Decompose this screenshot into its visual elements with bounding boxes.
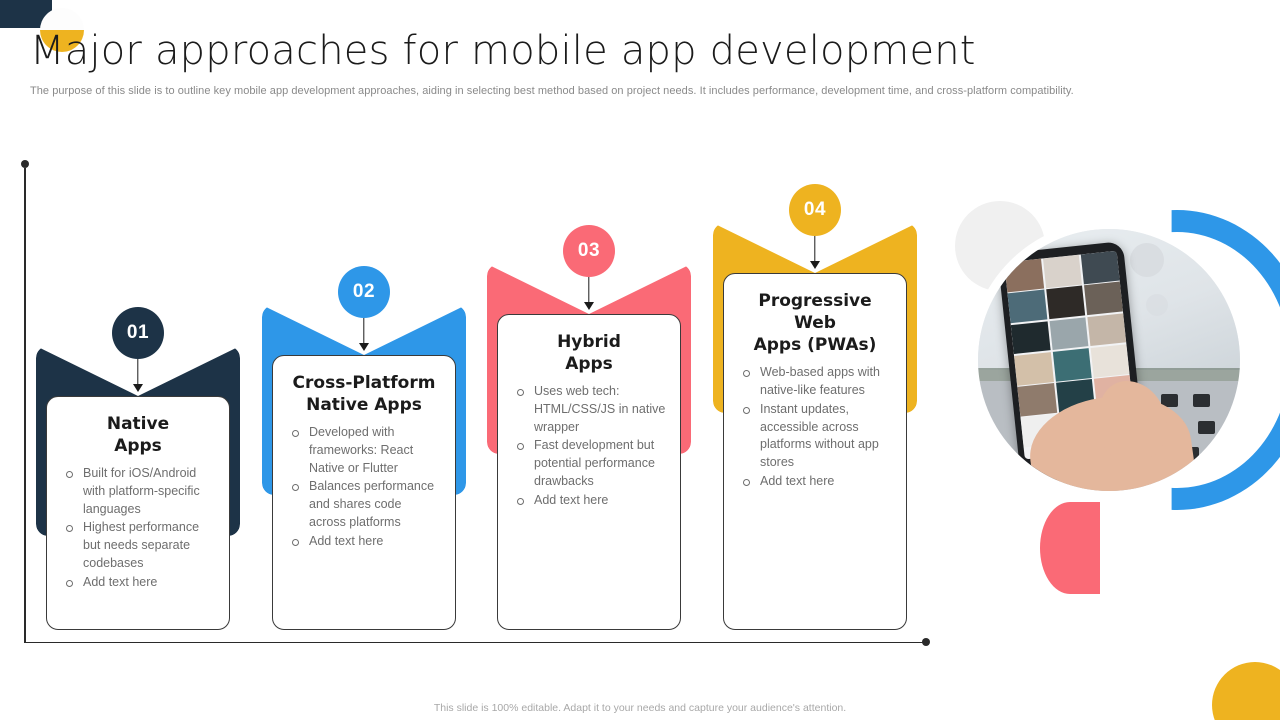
pillar-bullet-item: Balances performance and shares code acr… xyxy=(287,478,441,531)
pillar-04: 04Progressive WebApps (PWAs)Web-based ap… xyxy=(713,0,917,720)
pillar-bullet-item: Add text here xyxy=(738,473,892,491)
pillar-card[interactable]: HybridAppsUses web tech: HTML/CSS/JS in … xyxy=(497,314,681,630)
pillar-card-title: Progressive WebApps (PWAs) xyxy=(738,290,892,356)
pillar-number-badge[interactable]: 01 xyxy=(112,307,164,359)
pillar-bullet-item: Fast development but potential performan… xyxy=(512,437,666,490)
pillar-card-title-line1: Cross-Platform xyxy=(287,372,441,394)
pillar-03: 03HybridAppsUses web tech: HTML/CSS/JS i… xyxy=(487,0,691,720)
pillar-card[interactable]: NativeAppsBuilt for iOS/Android with pla… xyxy=(46,396,230,630)
timeline-end-dot xyxy=(922,638,930,646)
pillar-01: 01NativeAppsBuilt for iOS/Android with p… xyxy=(36,0,240,720)
pillar-bullet-item: Highest performance but needs separate c… xyxy=(61,519,215,572)
pillar-card-title: NativeApps xyxy=(61,413,215,457)
pillar-number-badge[interactable]: 04 xyxy=(789,184,841,236)
photo-circle-image xyxy=(969,220,1249,500)
pillar-bullet-item: Web-based apps with native-like features xyxy=(738,364,892,400)
pillar-card-title-line2: Apps xyxy=(61,435,215,457)
pillar-card[interactable]: Progressive WebApps (PWAs)Web-based apps… xyxy=(723,273,907,630)
pillar-card-title-line2: Apps (PWAs) xyxy=(738,334,892,356)
pillar-bullet-list: Built for iOS/Android with platform-spec… xyxy=(61,465,215,591)
blur-blob xyxy=(1146,294,1168,316)
pillar-bullet-item: Add text here xyxy=(61,574,215,592)
pillar-bullet-item: Built for iOS/Android with platform-spec… xyxy=(61,465,215,518)
coral-half-circle-shape xyxy=(1040,502,1100,594)
slide-canvas: Major approaches for mobile app developm… xyxy=(0,0,1280,720)
pillar-bullet-item: Instant updates, accessible across platf… xyxy=(738,401,892,472)
pillar-bullet-list: Developed with frameworks: React Native … xyxy=(287,424,441,550)
pillar-02: 02Cross-PlatformNative AppsDeveloped wit… xyxy=(262,0,466,720)
pillar-bullet-item: Add text here xyxy=(287,533,441,551)
timeline-start-dot xyxy=(21,160,29,168)
pillar-card-title: HybridApps xyxy=(512,331,666,375)
timeline-vertical-line xyxy=(24,168,26,643)
pillar-bullet-item: Add text here xyxy=(512,492,666,510)
blur-blob xyxy=(1130,243,1164,277)
decorative-artwork xyxy=(940,190,1270,620)
pillar-number-badge[interactable]: 02 xyxy=(338,266,390,318)
pillar-card[interactable]: Cross-PlatformNative AppsDeveloped with … xyxy=(272,355,456,630)
pillar-bullet-item: Developed with frameworks: React Native … xyxy=(287,424,441,477)
pillar-card-title: Cross-PlatformNative Apps xyxy=(287,372,441,416)
pillar-card-title-line1: Native xyxy=(61,413,215,435)
editable-note: This slide is 100% editable. Adapt it to… xyxy=(0,702,1280,714)
pillar-bullet-item: Uses web tech: HTML/CSS/JS in native wra… xyxy=(512,383,666,436)
pillar-card-title-line1: Hybrid xyxy=(512,331,666,353)
pillar-bullet-list: Web-based apps with native-like features… xyxy=(738,364,892,490)
pillar-number-badge[interactable]: 03 xyxy=(563,225,615,277)
pillar-card-title-line1: Progressive Web xyxy=(738,290,892,334)
pillar-bullet-list: Uses web tech: HTML/CSS/JS in native wra… xyxy=(512,383,666,509)
pillar-card-title-line2: Native Apps xyxy=(287,394,441,416)
pillar-card-title-line2: Apps xyxy=(512,353,666,375)
